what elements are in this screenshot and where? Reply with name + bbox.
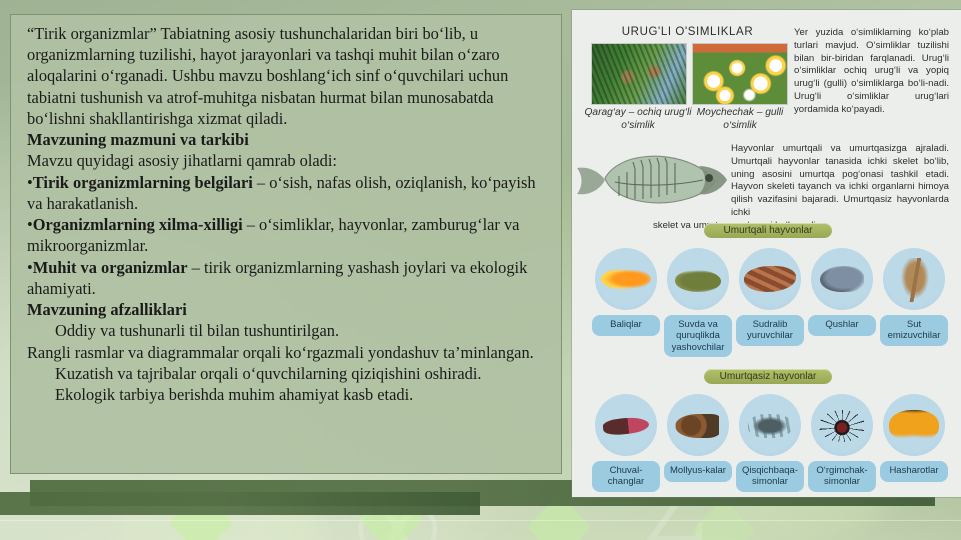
earthworm-icon (595, 394, 657, 456)
advantage-item: Ekologik tarbiya berishda muhim ahamiyat… (27, 384, 547, 405)
card-label: O‘rgimchak-simonlar (808, 461, 876, 492)
invertebrate-card[interactable]: Qisqichbaqa-simonlar (736, 394, 804, 492)
invertebrate-card[interactable]: Hasharotlar (880, 394, 948, 482)
snail-icon (667, 394, 729, 456)
card-label: Mollyus-kalar (664, 461, 732, 482)
plants-paragraph: Yer yuzida o‘simliklarning ko‘plab turla… (794, 27, 949, 116)
vertebrate-card[interactable]: Qushlar (808, 248, 876, 336)
vertebrate-card[interactable]: Suvda va quruqlikda yashovchilar (664, 248, 732, 357)
frog-icon (667, 248, 729, 310)
heading-advantages: Mavzuning afzalliklari (27, 299, 547, 320)
content-text-panel: “Tirik organizmlar” Tabiatning asosiy tu… (10, 14, 562, 474)
pigeon-icon (811, 248, 873, 310)
fish-skeleton-image (575, 138, 735, 216)
card-label: Qushlar (808, 315, 876, 336)
bullet-item: •Muhit va organizmlar – tirik organizmla… (27, 257, 547, 299)
card-label: Suvda va quruqlikda yashovchilar (664, 315, 732, 357)
heading-content-structure: Mavzuning mazmuni va tarkibi (27, 129, 547, 150)
invertebrate-card[interactable]: O‘rgimchak-simonlar (808, 394, 876, 492)
plants-section-title: URUG'LI O'SIMLIKLAR (589, 26, 786, 38)
footer-ribbon (0, 492, 480, 515)
illustration-panel: URUG'LI O'SIMLIKLAR Qarag‘ay – ochiq uru… (572, 10, 961, 497)
card-label: Qisqichbaqa-simonlar (736, 461, 804, 492)
bullet-item: •Tirik organizmlarning belgilari – o‘sis… (27, 172, 547, 214)
vertebrates-badge: Umurtqali hayvonlar (704, 223, 832, 238)
bullet-item: •Organizmlarning xilma-xilligi – o‘simli… (27, 214, 547, 256)
card-label: Sudralib yuruvchilar (736, 315, 804, 346)
goldfish-icon (595, 248, 657, 310)
animals-paragraph-main: Hayvonlar umurtqali va umurtqasizga ajra… (731, 143, 949, 218)
crab-icon (739, 394, 801, 456)
butterfly-icon (883, 394, 945, 456)
daisy-photo (692, 43, 788, 105)
spider-icon (811, 394, 873, 456)
snake-icon (739, 248, 801, 310)
intro-paragraph: “Tirik organizmlar” Tabiatning asosiy tu… (27, 23, 547, 129)
vertebrate-card[interactable]: Sut emizuvchilar (880, 248, 948, 346)
invertebrate-card[interactable]: Mollyus-kalar (664, 394, 732, 482)
advantage-item: Kuzatish va tajribalar orqali o‘quvchila… (27, 363, 547, 384)
advantage-item: Oddiy va tushunarli til bilan tushuntiri… (27, 320, 547, 341)
card-label: Sut emizuvchilar (880, 315, 948, 346)
card-label: Hasharotlar (880, 461, 948, 482)
daisy-caption: Moychechak – gulli o‘simlik (690, 106, 790, 132)
invertebrate-card[interactable]: Chuval-changlar (592, 394, 660, 492)
slide-canvas: ∞ ∑ “Tirik organizmlar” Tabiatning asosi… (0, 0, 961, 540)
ribbon-divider (0, 520, 961, 521)
bullet-title: Muhit va organizmlar (33, 258, 188, 277)
deer-icon (883, 248, 945, 310)
animals-paragraph: Hayvonlar umurtqali va umurtqasizga ajra… (731, 143, 949, 232)
vertebrate-card[interactable]: Baliqlar (592, 248, 660, 336)
intro-line: Mavzu quyidagi asosiy jihatlarni qamrab … (27, 150, 547, 171)
invertebrates-badge: Umurtqasiz hayvonlar (704, 369, 832, 384)
card-label: Chuval-changlar (592, 461, 660, 492)
pine-photo (591, 43, 687, 105)
card-label: Baliqlar (592, 315, 660, 336)
bullet-title: Organizmlarning xilma-xilligi (33, 215, 243, 234)
bullet-title: Tirik organizmlarning belgilari (33, 173, 253, 192)
vertebrate-card[interactable]: Sudralib yuruvchilar (736, 248, 804, 346)
advantage-item: Rangli rasmlar va diagrammalar orqali ko… (27, 342, 547, 363)
pine-caption: Qarag‘ay – ochiq urug‘li o‘simlik (582, 106, 694, 132)
